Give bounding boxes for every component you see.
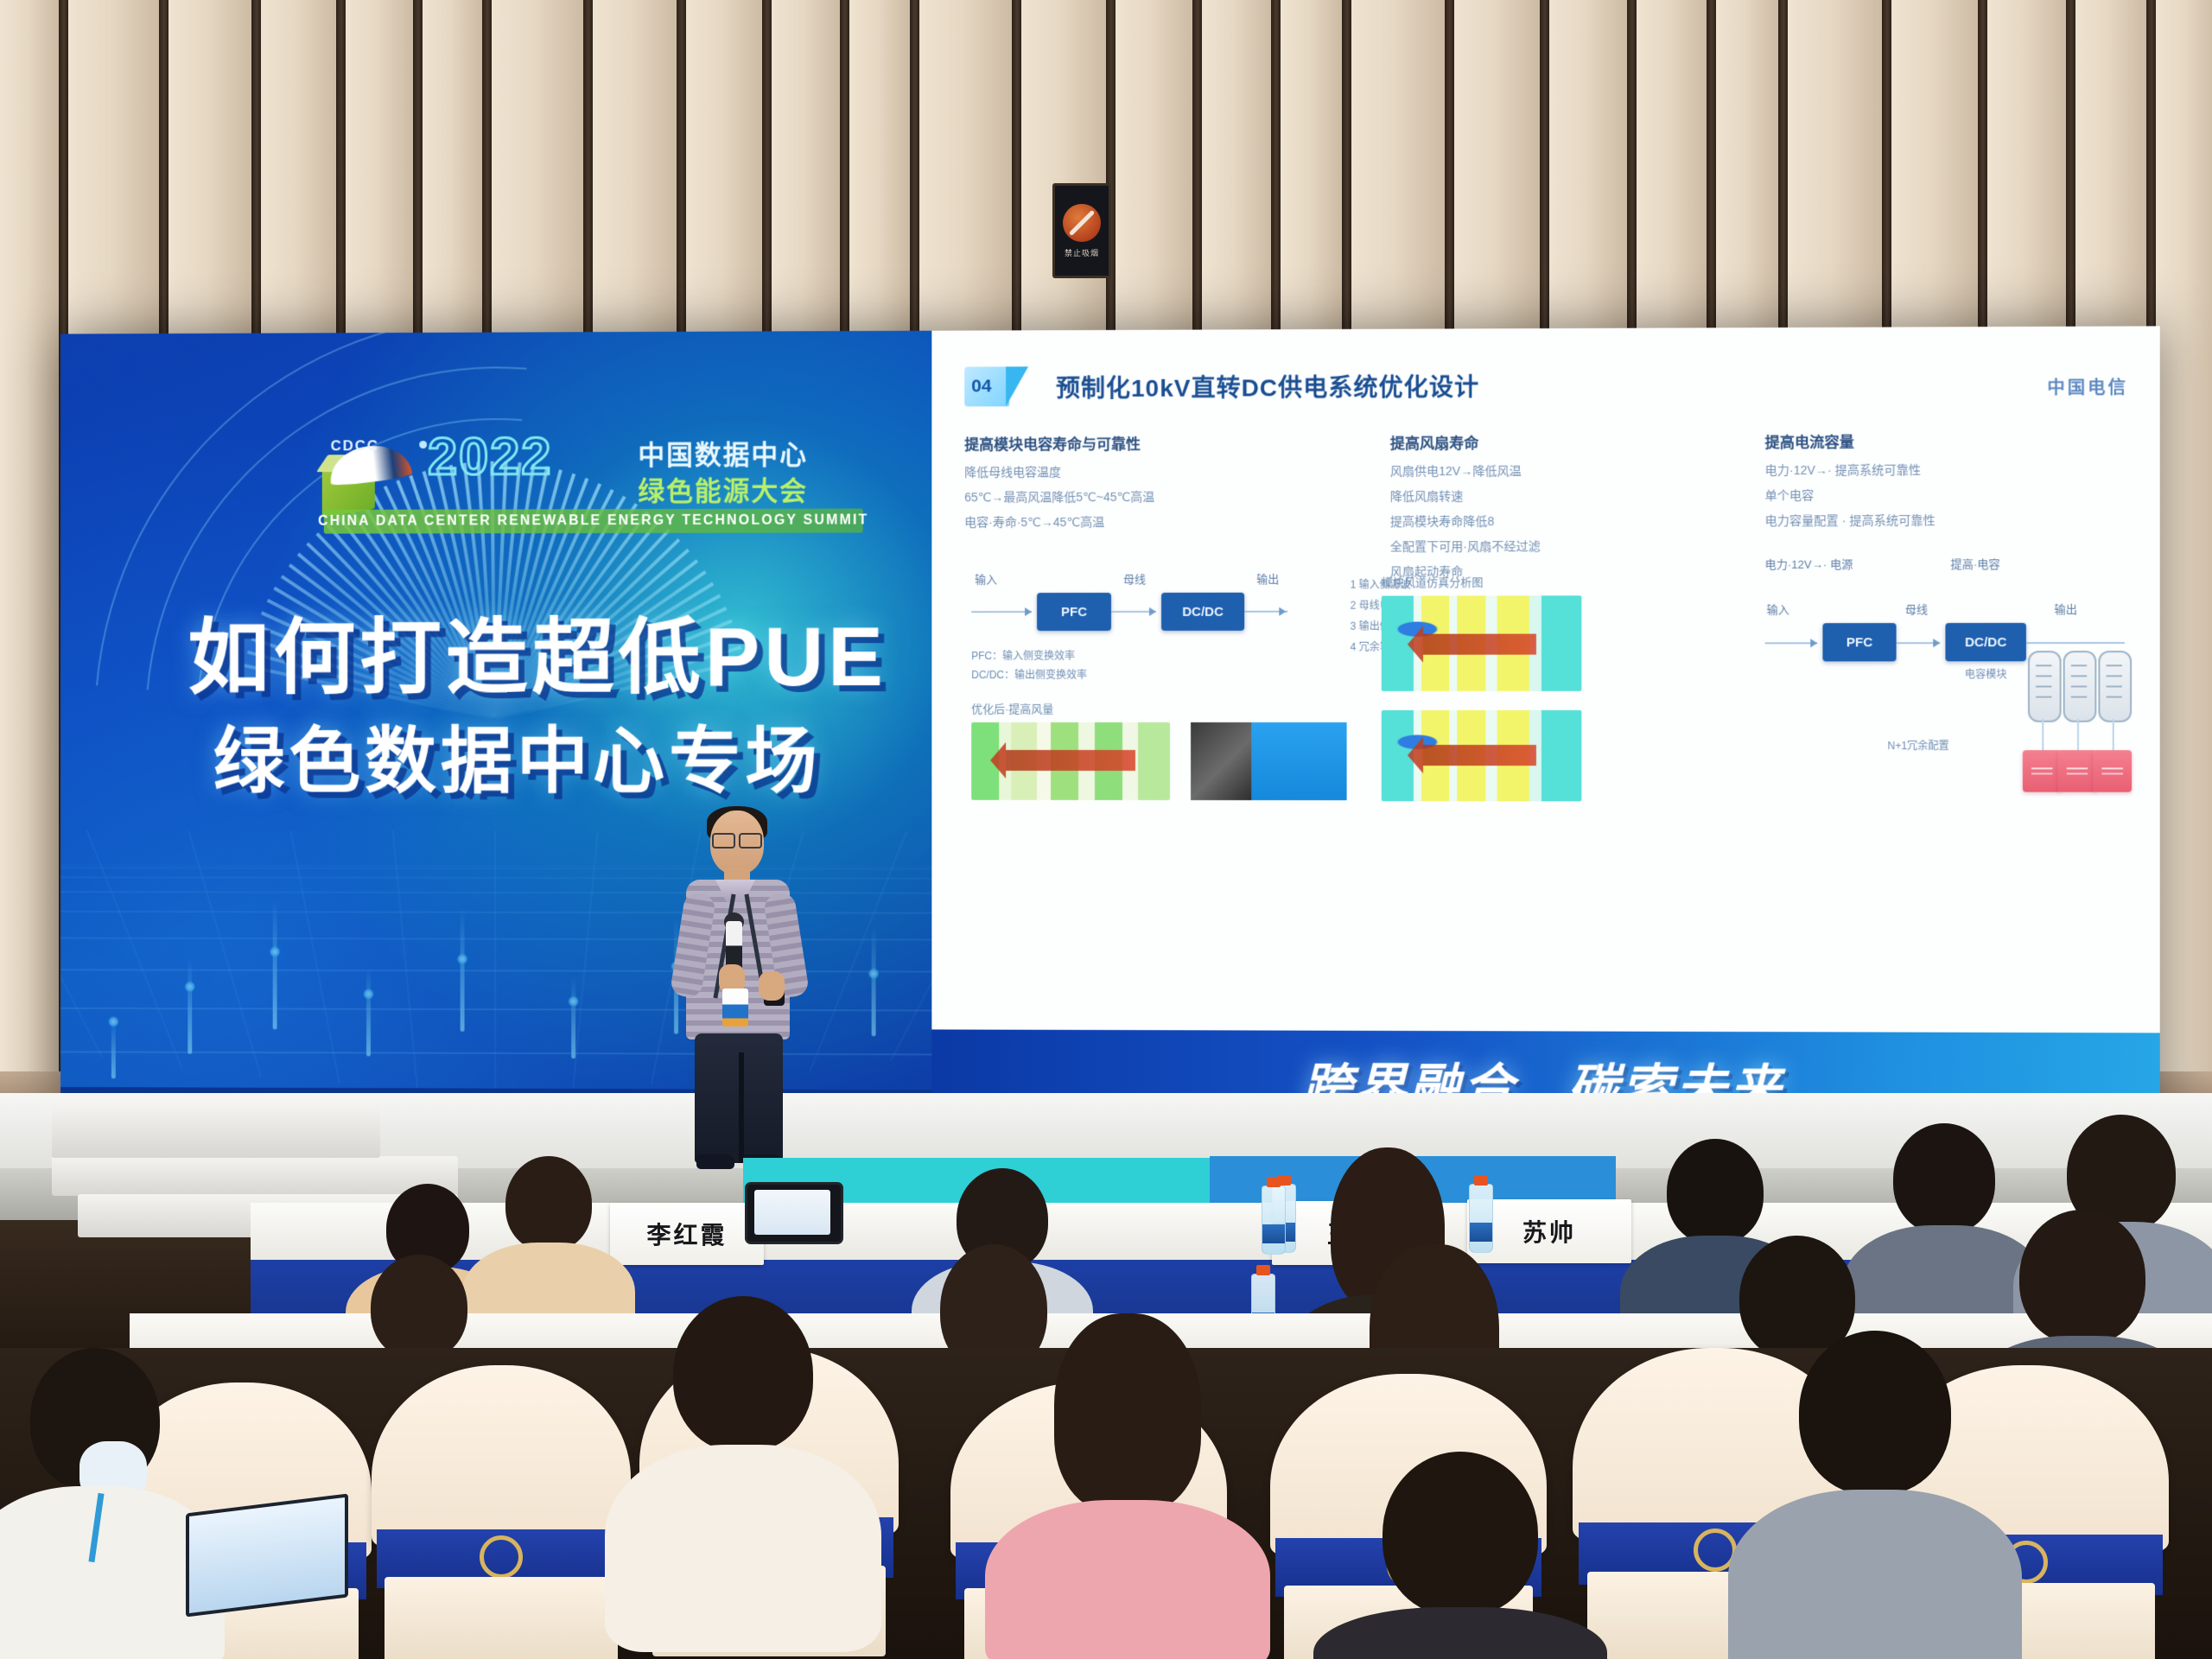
right-block-pfc: PFC — [1822, 623, 1896, 661]
person-head — [673, 1296, 813, 1452]
stage-step-0 — [52, 1104, 380, 1158]
event-year: 2022 — [428, 430, 552, 484]
slide-column-3: 提高电流容量 电力·12V→· 提高系统可靠性 单个电容 电力容量配置 · 提高… — [1765, 429, 2134, 537]
slide-block-diagram-right: 电力·12V→· 电源 提高·电容 输入 母线 输出 PFC DC/DC 电容模… — [1765, 570, 2134, 788]
right-redundancy-note: N+1冗余配置 — [1887, 738, 1948, 753]
diagram-arrow-mid-icon — [1149, 607, 1156, 616]
person-head — [1799, 1331, 1951, 1495]
speaker-shoe-left — [696, 1154, 734, 1169]
event-name-line2: 绿色能源大会 — [638, 469, 808, 508]
slide-header: 04 预制化10kV直转DC供电系统优化设计 中国电信 — [964, 361, 2133, 416]
slide-column-3-line-1: 电力·12V→· 提高系统可靠性 — [1765, 461, 2134, 479]
light-beam — [872, 926, 876, 1037]
slide-brand-logo: 中国电信 — [2047, 373, 2128, 399]
led-backdrop: CDCC 2022 中国数据中心 绿色能源大会 CHINA DATA CENTE… — [60, 326, 2160, 1137]
banquet-chair — [372, 1365, 631, 1659]
water-bottle-3 — [1469, 1184, 1493, 1253]
slide-block-diagram-main: 输入 母线 输出 PFC DC/DC PFC：输入侧变换效率 DC/DC：输出侧… — [971, 570, 1351, 675]
slide-number-arrow-icon — [1006, 366, 1028, 406]
person-head — [2019, 1210, 2145, 1344]
light-beam-dot — [868, 968, 880, 979]
light-beam-dot — [184, 982, 195, 993]
light-beam — [111, 1019, 116, 1078]
person-head — [1893, 1123, 1995, 1234]
slide-column-2-heading: 提高风扇寿命 — [1390, 430, 1721, 453]
audience-person-front-1 — [0, 1348, 190, 1659]
load-block-1 — [2023, 750, 2062, 791]
diagram-block-dcdc: DC/DC — [1161, 593, 1244, 631]
audience-person-front-2 — [639, 1296, 847, 1642]
light-beam-dot — [568, 995, 579, 1007]
cfd-image-mid-bottom — [1382, 710, 1582, 801]
right-diagram-heading-left: 电力·12V→· 电源 — [1765, 556, 1853, 572]
diagram-input-label: 输入 — [975, 570, 997, 587]
smartphone-screen — [754, 1190, 830, 1235]
person-head — [371, 1255, 467, 1360]
no-smoking-icon — [1063, 204, 1101, 242]
prototype-blue-panel — [1251, 722, 1346, 800]
cfd-image-left-bottom — [971, 722, 1170, 800]
right-block-dcdc: DC/DC — [1945, 623, 2026, 661]
load-block-2 — [2058, 750, 2097, 791]
diagram-output-label: 输出 — [1256, 570, 1279, 587]
slide-column-3-line-3: 电力容量配置 · 提高系统可靠性 — [1765, 512, 2134, 530]
module-link-1 — [2042, 719, 2044, 750]
diagram-arrow-out-icon — [1279, 607, 1286, 616]
name-card-3-text: 苏帅 — [1522, 1214, 1576, 1249]
diagram-wire-in — [971, 611, 1032, 613]
wall-slat — [2156, 0, 2212, 1123]
water-bottle-2 — [1262, 1185, 1286, 1255]
light-beam-dot — [363, 988, 374, 1000]
presentation-slide: 04 预制化10kV直转DC供电系统优化设计 中国电信 提高模块电容寿命与可靠性… — [931, 326, 2159, 1033]
logo-wordmark: CDCC — [331, 437, 379, 454]
slide-column-3-line-2: 单个电容 — [1765, 486, 2134, 504]
right-wire-bus — [2026, 642, 2125, 644]
right-arrow-mid-icon — [1933, 639, 1940, 647]
wall-slat — [0, 0, 59, 1123]
light-beam-dot — [108, 1016, 119, 1027]
slide-number: 04 — [971, 376, 991, 397]
grid-line-v — [494, 830, 496, 1088]
session-title-line2: 绿色数据中心专场 — [213, 703, 822, 808]
no-smoking-label: 禁止吸烟 — [1065, 247, 1099, 258]
person-body — [605, 1445, 881, 1652]
power-module-3 — [2098, 651, 2132, 722]
slide-column-2-line-4: 全配置下可用·风扇不经过滤 — [1390, 537, 1721, 556]
person-body — [985, 1500, 1270, 1659]
prototype-photo — [1191, 722, 1251, 800]
right-diagram-mid-label: 母线 — [1905, 601, 1928, 617]
slide-column-1-heading: 提高模块电容寿命与可靠性 — [964, 431, 1336, 454]
slide-column-1-line-2: 65℃→最高风温降低5℃~45℃高温 — [964, 487, 1336, 505]
light-beam-dot — [457, 953, 468, 964]
diagram-note-left-2: DC/DC：输出侧变换效率 — [971, 667, 1087, 682]
light-beam — [571, 977, 575, 1059]
cfd-image-mid-top — [1382, 595, 1582, 691]
diagram-mid-label: 母线 — [1123, 570, 1146, 587]
no-smoking-sign: 禁止吸烟 — [1052, 183, 1111, 278]
cfd-left-bottom-caption: 优化后·提高风量 — [971, 700, 1053, 716]
audience-person-front-3 — [1020, 1313, 1236, 1659]
person-body — [1728, 1490, 2022, 1659]
right-diagram-output-label: 输出 — [2055, 601, 2077, 617]
power-module-2 — [2063, 651, 2097, 722]
diagram-arrow-in-icon — [1025, 607, 1032, 616]
chair-back-cover — [372, 1365, 631, 1548]
person-body — [1313, 1607, 1607, 1659]
person-head — [1667, 1139, 1764, 1244]
slide-title: 预制化10kV直转DC供电系统优化设计 — [1056, 369, 1479, 405]
person-head — [1054, 1313, 1201, 1512]
light-beam-dot — [270, 946, 281, 957]
diagram-note-left-1: PFC：输入侧变换效率 — [971, 648, 1075, 663]
slide-column-1-line-3: 电容·寿命·5℃→45℃高温 — [964, 512, 1336, 531]
diagram-block-pfc: PFC — [1037, 593, 1111, 631]
screenshot-root: 禁止吸烟 CDCC 2022 中国数据中心 绿色能源大会 CH — [0, 0, 2212, 1659]
slide-column-1-line-1: 降低母线电容温度 — [964, 462, 1336, 480]
cfd-airflow-arrow-icon-2 — [1423, 634, 1536, 655]
audience-person-front-5 — [1763, 1331, 1987, 1659]
event-english-name-bar: CHINA DATA CENTER RENEWABLE ENERGY TECHN… — [324, 509, 863, 534]
slide-column-1: 提高模块电容寿命与可靠性 降低母线电容温度 65℃→最高风温降低5℃~45℃高温… — [964, 431, 1336, 538]
chair-ring-buckle — [480, 1535, 523, 1579]
event-name-line1: 中国数据中心 — [638, 433, 808, 472]
cfd-mid-caption: 模块风道仿真分析图 — [1382, 573, 1484, 589]
slide-column-3-heading: 提高电流容量 — [1765, 429, 2134, 452]
right-wire-in — [1765, 642, 1818, 644]
module-link-3 — [2113, 719, 2114, 750]
light-beam — [188, 959, 192, 1054]
audience-person-front-4 — [1348, 1452, 1573, 1659]
event-english-name: CHINA DATA CENTER RENEWABLE ENERGY TECHN… — [318, 513, 868, 530]
logo-dot-shape — [419, 441, 427, 448]
speaker-leg-split — [739, 1052, 744, 1163]
cfd-airflow-arrow-icon-3 — [1423, 745, 1536, 766]
lanyard-badge — [722, 988, 748, 1027]
light-beam — [366, 968, 371, 1056]
speaker-on-stage — [674, 810, 808, 1173]
eyeglasses-icon — [712, 833, 762, 845]
right-diagram-heading-right: 提高·电容 — [1951, 555, 2000, 571]
right-diagram-input-label: 输入 — [1767, 601, 1789, 617]
audience-person-back-2 — [484, 1156, 613, 1329]
slide-number-badge: 04 — [964, 366, 1028, 406]
person-head — [505, 1156, 592, 1251]
light-beam — [273, 899, 277, 1029]
load-block-3 — [2093, 750, 2132, 791]
slide-column-2-line-1: 风扇供电12V→降低风温 — [1390, 461, 1721, 480]
speaker-hand-right — [759, 971, 785, 1001]
right-arrow-in-icon — [1810, 639, 1817, 647]
slide-column-2: 提高风扇寿命 风扇供电12V→降低风温 降低风扇转速 提高模块寿命降低8 全配置… — [1390, 430, 1721, 588]
person-head — [1382, 1452, 1538, 1616]
event-logo: CDCC 2022 中国数据中心 绿色能源大会 CHINA DATA CENTE… — [315, 428, 863, 532]
laptop[interactable] — [186, 1493, 348, 1617]
module-link-2 — [2077, 719, 2079, 750]
cfd-airflow-arrow-icon — [1006, 750, 1135, 771]
light-beam — [461, 908, 465, 1032]
session-title-line1: 如何打造超低PUE — [188, 589, 887, 709]
chair-skirt — [385, 1577, 618, 1659]
right-module-note: 电容模块 — [1965, 666, 2007, 681]
power-module-1 — [2028, 651, 2062, 722]
slide-column-2-line-3: 提高模块寿命降低8 — [1390, 512, 1721, 531]
name-card-1: 李红霞 — [610, 1203, 764, 1265]
slide-column-2-line-2: 降低风扇转速 — [1390, 486, 1721, 505]
smartphone[interactable] — [745, 1182, 843, 1244]
name-card-1-text: 李红霞 — [646, 1217, 727, 1251]
